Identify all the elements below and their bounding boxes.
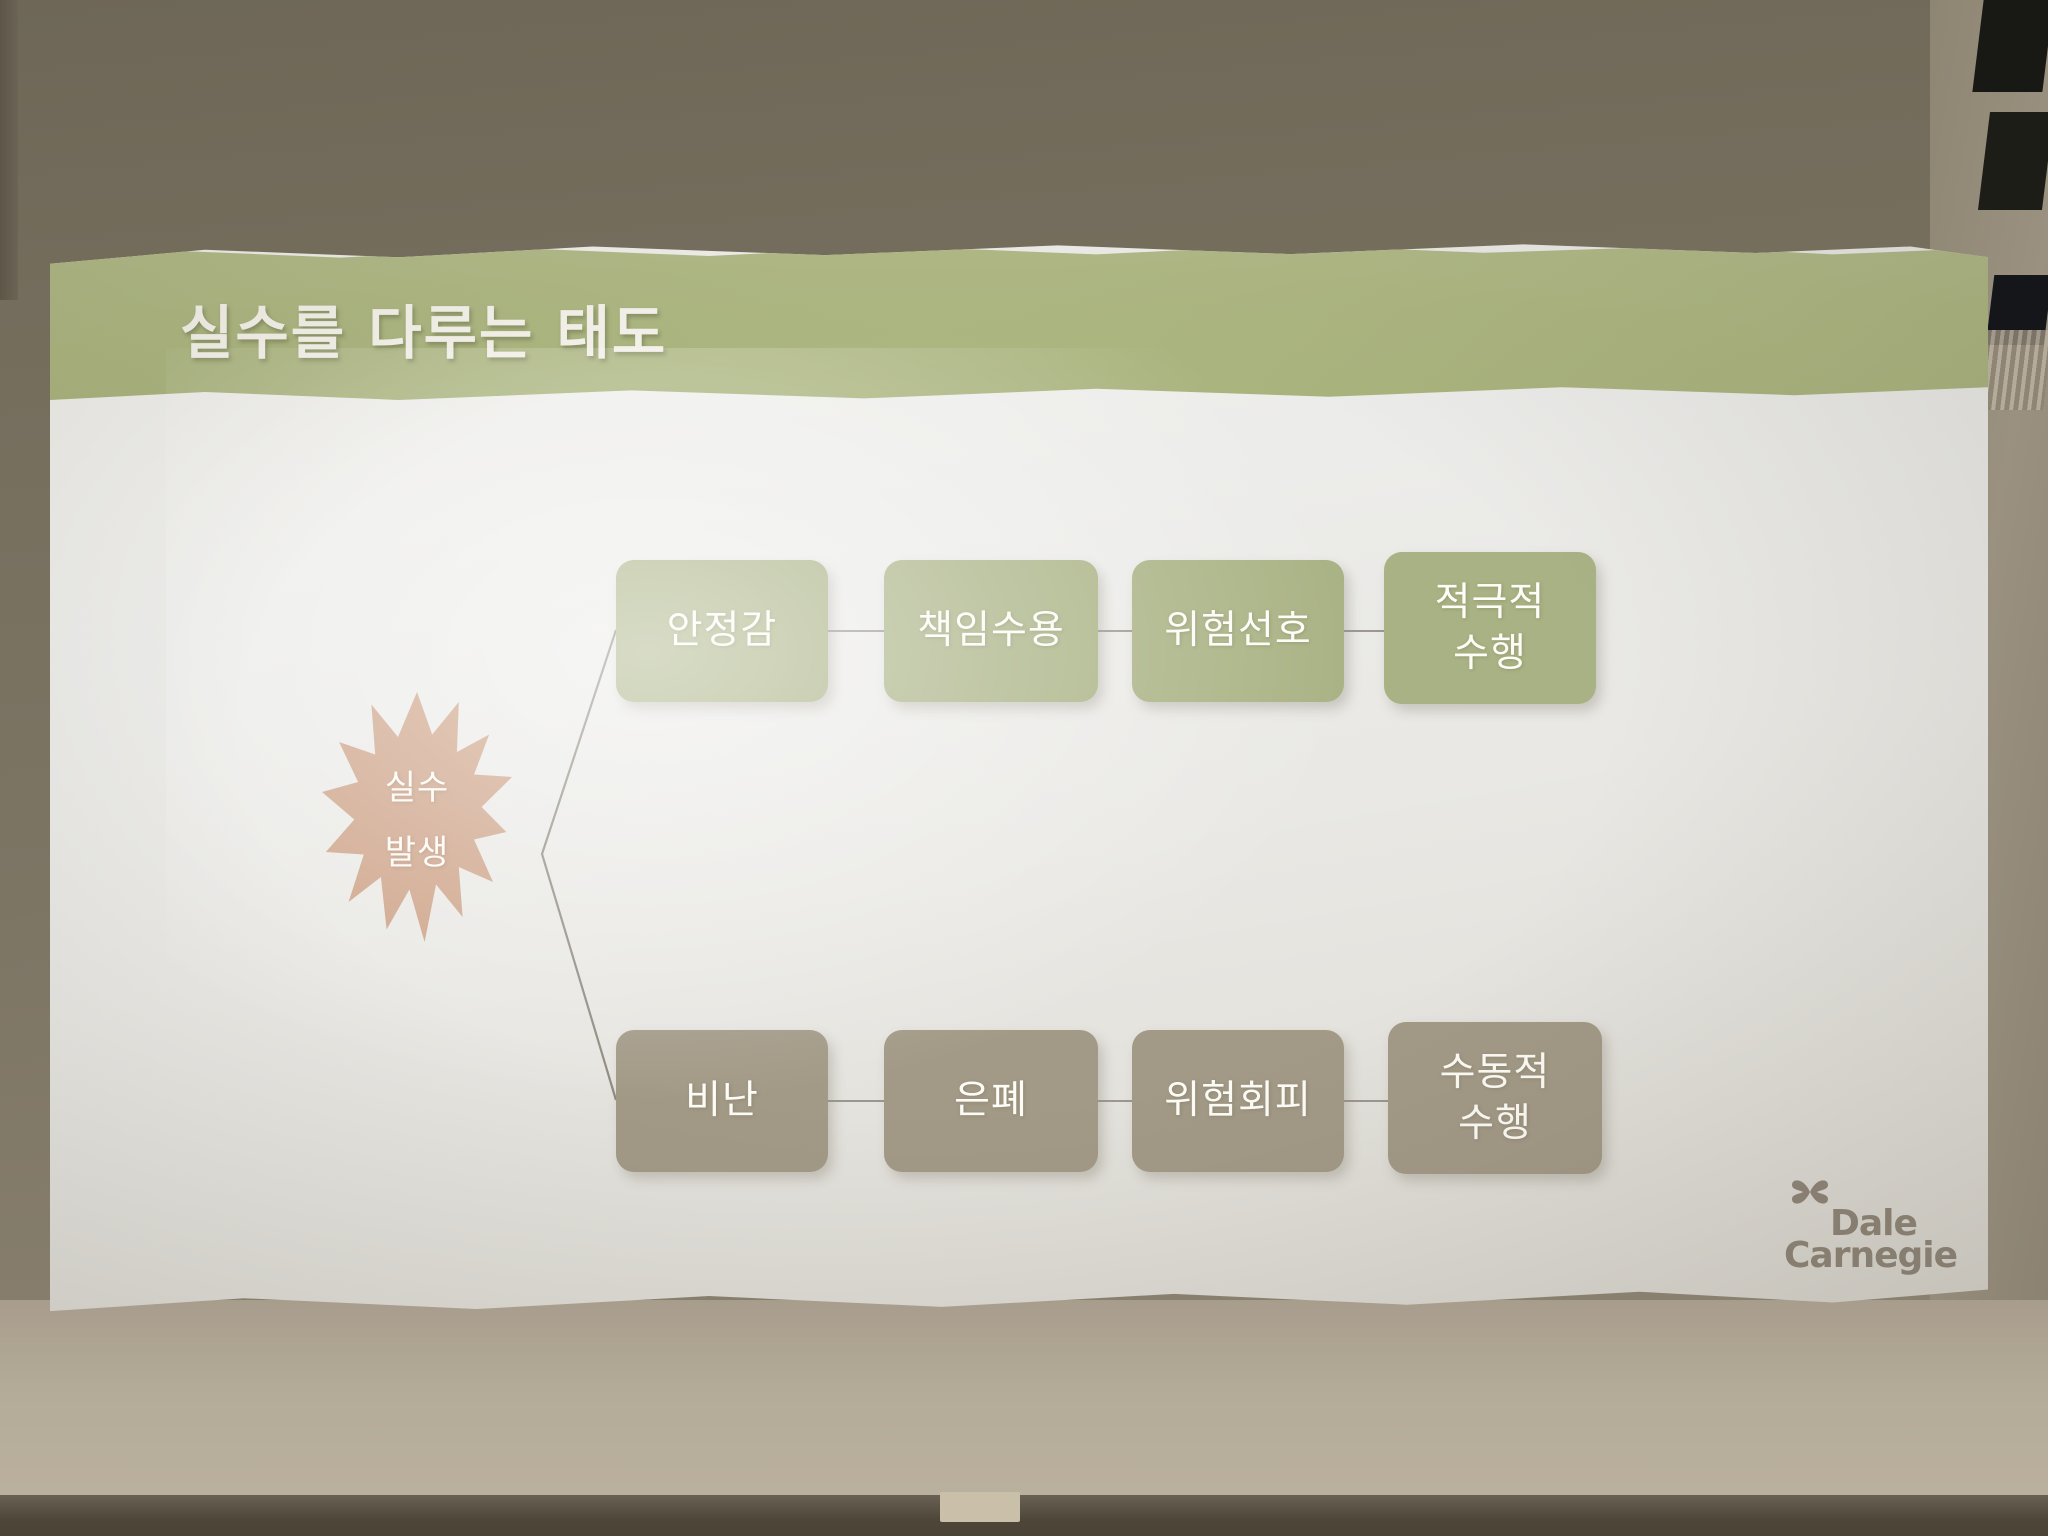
connector-negative-1-2 — [828, 1100, 884, 1102]
ceiling-dark-panel-1 — [1972, 0, 2048, 92]
projected-slide: 실수를 다루는 태도 안정감 책임수용 위험선호 적극적 수행 — [50, 240, 1988, 1322]
node-negative-2-label: 은폐 — [954, 1075, 1028, 1126]
node-positive-1-label: 안정감 — [667, 605, 778, 656]
node-negative-1[interactable]: 비난 — [616, 1030, 828, 1172]
trigger-burst-text: 실수 발생 — [322, 692, 512, 942]
node-positive-1[interactable]: 안정감 — [616, 560, 828, 702]
slide-surface: 실수를 다루는 태도 안정감 책임수용 위험선호 적극적 수행 — [50, 240, 1988, 1322]
wall-left-edge — [0, 0, 18, 300]
node-positive-3-label: 위험선호 — [1164, 605, 1312, 656]
node-negative-4-label-line1: 수동적 — [1440, 1047, 1551, 1098]
trigger-burst[interactable]: 실수 발생 — [322, 692, 512, 942]
ceiling-dark-panel-2 — [1978, 112, 2048, 210]
butterfly-icon — [1790, 1176, 1830, 1208]
node-negative-4[interactable]: 수동적 수행 — [1388, 1022, 1602, 1174]
node-negative-1-label: 비난 — [685, 1075, 759, 1126]
logo-text-line2: Carnegie — [1784, 1238, 1957, 1274]
trigger-label-line1: 실수 — [385, 760, 450, 809]
slide-title: 실수를 다루는 태도 — [180, 286, 667, 370]
connector-negative-2-3 — [1098, 1100, 1132, 1102]
flow-diagram: 안정감 책임수용 위험선호 적극적 수행 실수 발생 — [50, 400, 1988, 1322]
node-positive-3[interactable]: 위험선호 — [1132, 560, 1344, 702]
trigger-label-line2: 발생 — [385, 825, 450, 874]
dale-carnegie-logo: Dale Carnegie — [1784, 1176, 1960, 1294]
floor-shadow — [0, 1495, 2048, 1536]
node-negative-4-label-line2: 수행 — [1458, 1098, 1532, 1149]
connector-positive-3-4 — [1344, 630, 1384, 632]
connector-negative-3-4 — [1344, 1100, 1388, 1102]
node-positive-4[interactable]: 적극적 수행 — [1384, 552, 1596, 704]
connector-positive-1-2 — [828, 630, 884, 632]
node-negative-3-label: 위험회피 — [1164, 1075, 1312, 1126]
node-positive-4-label-line2: 수행 — [1453, 628, 1527, 679]
wall-plinth — [940, 1492, 1020, 1522]
node-positive-2[interactable]: 책임수용 — [884, 560, 1098, 702]
connector-positive-2-3 — [1098, 630, 1132, 632]
node-negative-3[interactable]: 위험회피 — [1132, 1030, 1344, 1172]
node-positive-4-label-line1: 적극적 — [1435, 577, 1546, 628]
node-positive-2-label: 책임수용 — [917, 605, 1065, 656]
node-negative-2[interactable]: 은폐 — [884, 1030, 1098, 1172]
